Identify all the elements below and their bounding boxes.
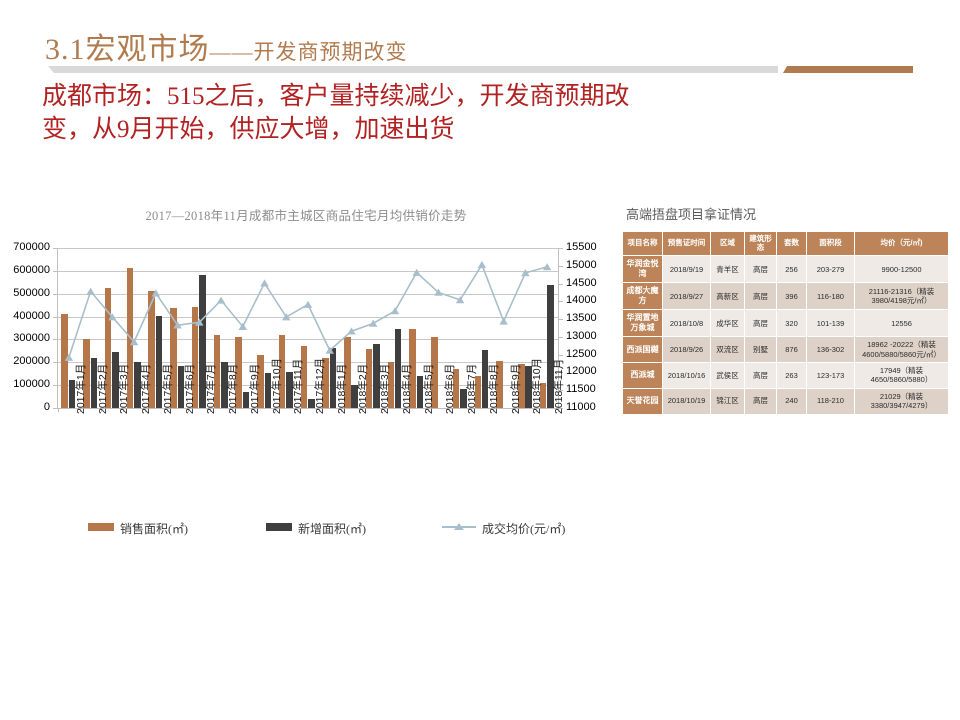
x-tick-label: 2017年1月	[73, 364, 88, 414]
legend-swatch-sell	[88, 523, 114, 531]
table-cell-units: 396	[777, 283, 807, 310]
y-tick-mark-right	[559, 319, 563, 320]
table-cell-area: 116-180	[807, 283, 855, 310]
table-cell-units: 876	[777, 337, 807, 363]
x-tick-label: 2018年1月	[334, 364, 349, 414]
y-tick-mark-right	[559, 248, 563, 249]
table-cell-price: 18962 -20222（精装4600/5880/5860元/㎡）	[855, 337, 949, 363]
slide-title-sub: 开发商预期改变	[254, 40, 408, 64]
table-cell-date: 2018/9/19	[663, 256, 711, 283]
y-tick-mark-left	[53, 408, 57, 409]
table-header-cell: 面积段	[807, 232, 855, 256]
x-tick-label: 2018年4月	[399, 364, 414, 414]
legend-item-new: 新增面积(㎡)	[266, 520, 366, 538]
x-tick-label: 2017年3月	[116, 364, 131, 414]
table-header-cell: 建筑形态	[745, 232, 777, 256]
table-cell-district: 高新区	[711, 283, 745, 310]
chart-block: 2017—2018年11月成都市主城区商品住宅月均供销价走势 010000020…	[0, 200, 612, 560]
y-tick-label-left: 700000	[0, 241, 50, 253]
table-cell-name: 天誉花园	[623, 388, 663, 414]
table-cell-price: 21029（精装3380/3947/4279）	[855, 388, 949, 414]
header-rule-brown	[783, 66, 913, 73]
chart-legend: 销售面积(㎡) 新增面积(㎡) 成交均价(元/㎡)	[70, 520, 570, 540]
table-block: 高端捂盘项目拿证情况 项目名称预售证时间区域建筑形态套数面积段均价（元/㎡) 华…	[622, 200, 952, 415]
table-cell-units: 263	[777, 363, 807, 389]
table-cell-date: 2018/9/27	[663, 283, 711, 310]
table-cell-district: 武侯区	[711, 363, 745, 389]
y-tick-label-left: 0	[0, 401, 50, 413]
y-tick-label-right: 14500	[566, 277, 614, 289]
y-tick-label-right: 11000	[566, 401, 614, 413]
y-tick-label-right: 13000	[566, 330, 614, 342]
y-tick-label-right: 12000	[566, 365, 614, 377]
legend-label-new: 新增面积(㎡)	[298, 522, 366, 536]
y-tick-label-left: 300000	[0, 332, 50, 344]
x-tick-label: 2018年9月	[508, 364, 523, 414]
table-cell-units: 256	[777, 256, 807, 283]
table-cell-units: 240	[777, 388, 807, 414]
slide-title-dash: ——	[210, 40, 254, 64]
legend-item-price: 成交均价(元/㎡)	[442, 520, 565, 538]
y-tick-label-right: 14000	[566, 294, 614, 306]
table-body: 华润金悦湾2018/9/19青羊区高层256203-2799900-12500成…	[623, 256, 949, 414]
y-tick-label-left: 600000	[0, 264, 50, 276]
y-tick-mark-left	[53, 362, 57, 363]
y-tick-label-right: 15500	[566, 241, 614, 253]
table-cell-date: 2018/10/8	[663, 310, 711, 337]
x-tick-label: 2017年2月	[95, 364, 110, 414]
slide-title: 3.1宏观市场——开发商预期改变	[45, 24, 408, 68]
slide-title-main: 3.1宏观市场	[45, 33, 210, 66]
y-tick-mark-left	[53, 271, 57, 272]
x-tick-label: 2017年7月	[203, 364, 218, 414]
table-cell-area: 203-279	[807, 256, 855, 283]
table-cell-area: 123-173	[807, 363, 855, 389]
table-cell-form: 高层	[745, 388, 777, 414]
x-tick-label: 2018年5月	[421, 364, 436, 414]
x-tick-label: 2018年3月	[377, 364, 392, 414]
table-row: 华润金悦湾2018/9/19青羊区高层256203-2799900-12500	[623, 256, 949, 283]
table-cell-form: 高层	[745, 256, 777, 283]
y-tick-mark-right	[559, 355, 563, 356]
table-cell-district: 锦江区	[711, 388, 745, 414]
y-tick-label-left: 100000	[0, 378, 50, 390]
legend-swatch-price	[442, 523, 476, 531]
y-tick-mark-left	[53, 317, 57, 318]
table-header-cell: 项目名称	[623, 232, 663, 256]
table-cell-area: 118-210	[807, 388, 855, 414]
y-tick-label-right: 15000	[566, 259, 614, 271]
legend-swatch-new	[266, 523, 292, 531]
table-header-cell: 预售证时间	[663, 232, 711, 256]
table-cell-name: 西派国樾	[623, 337, 663, 363]
table-cell-name: 华润置地万象城	[623, 310, 663, 337]
table-row: 天誉花园2018/10/19锦江区高层240118-21021029（精装338…	[623, 388, 949, 414]
table-header-row: 项目名称预售证时间区域建筑形态套数面积段均价（元/㎡)	[623, 232, 949, 256]
x-tick-label: 2018年10月	[529, 358, 544, 414]
table-cell-date: 2018/9/26	[663, 337, 711, 363]
slide-lede: 成都市场：515之后，客户量持续减少，开发商预期改变，从9月开始，供应大增，加速…	[42, 80, 662, 146]
table-cell-price: 9900-12500	[855, 256, 949, 283]
table-caption: 高端捂盘项目拿证情况	[626, 204, 952, 223]
table-cell-price: 12556	[855, 310, 949, 337]
table-row: 西派城2018/10/16武侯区高层263123-17317949（精装4650…	[623, 363, 949, 389]
y-tick-mark-right	[559, 266, 563, 267]
table-header-cell: 套数	[777, 232, 807, 256]
table-row: 华润置地万象城2018/10/8成华区高层320101-13912556	[623, 310, 949, 337]
y-tick-label-left: 400000	[0, 310, 50, 322]
chart-title: 2017—2018年11月成都市主城区商品住宅月均供销价走势	[0, 205, 612, 224]
y-tick-mark-left	[53, 248, 57, 249]
y-tick-mark-left	[53, 385, 57, 386]
header-rule-gray	[48, 66, 778, 73]
table-cell-price: 21116-21316（精装3980/4198元/㎡）	[855, 283, 949, 310]
y-tick-mark-left	[53, 294, 57, 295]
y-tick-mark-right	[559, 337, 563, 338]
x-tick-label: 2017年10月	[269, 358, 284, 414]
table-cell-name: 华润金悦湾	[623, 256, 663, 283]
y-tick-mark-right	[559, 301, 563, 302]
y-tick-label-left: 200000	[0, 355, 50, 367]
table-cell-district: 成华区	[711, 310, 745, 337]
x-tick-label: 2017年12月	[312, 358, 327, 414]
table-cell-district: 青羊区	[711, 256, 745, 283]
table-cell-form: 高层	[745, 363, 777, 389]
permit-table: 项目名称预售证时间区域建筑形态套数面积段均价（元/㎡) 华润金悦湾2018/9/…	[622, 231, 949, 415]
x-tick-label: 2018年11月	[551, 359, 566, 414]
x-tick-label: 2017年4月	[138, 364, 153, 414]
table-cell-name: 西派城	[623, 363, 663, 389]
y-tick-label-left: 500000	[0, 287, 50, 299]
table-cell-price: 17949（精装4650/5860/5880）	[855, 363, 949, 389]
table-row: 成都大魔方2018/9/27高新区高层396116-18021116-21316…	[623, 283, 949, 310]
y-tick-label-right: 11500	[566, 383, 614, 395]
table-cell-form: 高层	[745, 310, 777, 337]
table-cell-district: 双流区	[711, 337, 745, 363]
y-tick-label-right: 13500	[566, 312, 614, 324]
legend-label-sell: 销售面积(㎡)	[120, 522, 188, 536]
y-tick-label-right: 12500	[566, 348, 614, 360]
table-header-cell: 均价（元/㎡)	[855, 232, 949, 256]
x-tick-label: 2018年7月	[464, 364, 479, 414]
x-tick-label: 2017年5月	[160, 364, 175, 414]
table-cell-area: 136-302	[807, 337, 855, 363]
chart-x-ticks	[58, 248, 558, 408]
chart-plot-area	[57, 248, 559, 409]
table-cell-units: 320	[777, 310, 807, 337]
legend-label-price: 成交均价(元/㎡)	[482, 522, 565, 536]
x-tick-label: 2017年11月	[290, 359, 305, 414]
legend-item-sell: 销售面积(㎡)	[88, 520, 188, 538]
x-tick-label: 2018年2月	[355, 364, 370, 414]
table-header-cell: 区域	[711, 232, 745, 256]
y-tick-mark-left	[53, 339, 57, 340]
table-cell-name: 成都大魔方	[623, 283, 663, 310]
table-cell-date: 2018/10/16	[663, 363, 711, 389]
x-tick-label: 2017年9月	[247, 364, 262, 414]
table-cell-form: 别墅	[745, 337, 777, 363]
x-tick-label: 2018年8月	[486, 364, 501, 414]
y-tick-mark-right	[559, 284, 563, 285]
table-cell-area: 101-139	[807, 310, 855, 337]
x-tick-label: 2017年6月	[182, 364, 197, 414]
x-tick-label: 2017年8月	[225, 364, 240, 414]
x-tick-label: 2018年6月	[442, 364, 457, 414]
table-cell-date: 2018/10/19	[663, 388, 711, 414]
table-row: 西派国樾2018/9/26双流区别墅876136-30218962 -20222…	[623, 337, 949, 363]
table-cell-form: 高层	[745, 283, 777, 310]
x-tick	[58, 408, 59, 412]
